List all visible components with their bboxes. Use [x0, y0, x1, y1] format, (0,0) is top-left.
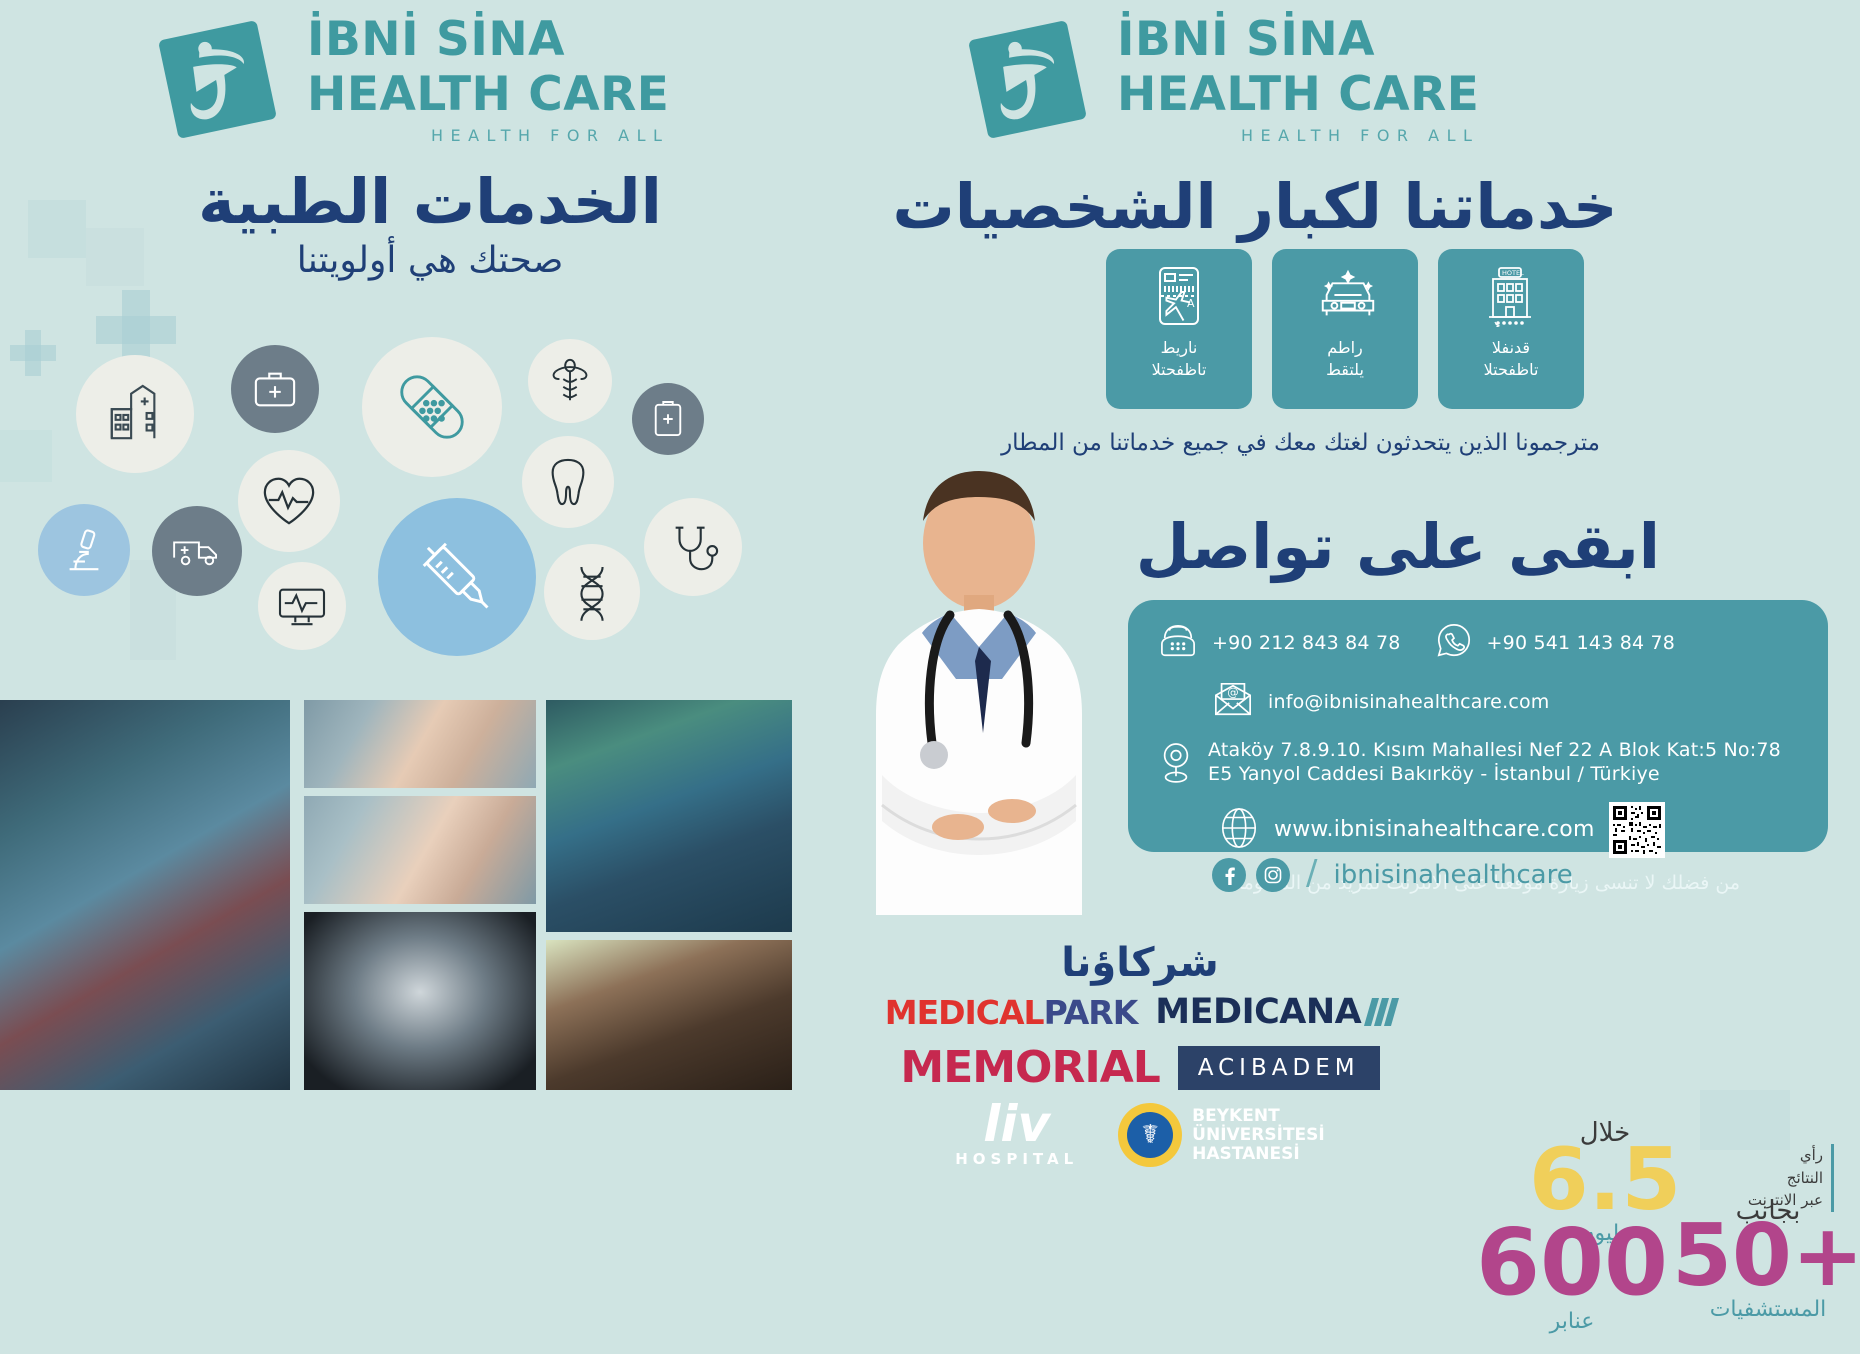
email-icon: @: [1212, 680, 1254, 724]
separator-slash: /: [1306, 853, 1317, 893]
photo-chest-xray: [304, 912, 536, 1090]
bg-square: [0, 430, 52, 482]
microscope-icon: [38, 504, 130, 596]
contact-heading: ابقى على تواصل: [1100, 510, 1660, 583]
photo-hair-transplant-result: [546, 940, 792, 1090]
logo-left: İBNİ SİNA HEALTH CARE HEALTH FOR ALL: [150, 12, 669, 147]
contact-email-row: @ info@ibnisinahealthcare.com: [1158, 680, 1802, 724]
website-url[interactable]: www.ibnisinahealthcare.com: [1274, 816, 1595, 844]
contact-address-row: Ataköy 7.8.9.10. Kısım Mahallesi Nef 22 …: [1158, 738, 1802, 788]
contact-panel: +90 212 843 84 78 +90 541 143 84 78 @: [1128, 600, 1828, 852]
medicana-logo: MEDICANA: [1155, 992, 1395, 1032]
tooth-icon: [522, 436, 614, 528]
location-pin-icon: [1158, 740, 1194, 788]
logo-name-line2: HEALTH CARE: [307, 71, 669, 118]
partners-row-3: liv HOSPITAL ☤ BEYKENT ÜNİVERSİTESİ HAST…: [830, 1103, 1450, 1168]
beykent-logo-text: BEYKENT ÜNİVERSİTESİ HASTANESİ: [1192, 1107, 1325, 1164]
caduceus-seal-icon: ☤: [1127, 1112, 1173, 1158]
caduceus-icon: [528, 339, 612, 423]
photo-rhinoplasty-profile-after: [304, 796, 536, 904]
left-heading: الخدمات الطبية: [60, 165, 800, 238]
ecg-monitor-icon: [258, 562, 346, 650]
telephone-icon: [1158, 623, 1198, 663]
service-card-label: راطميلتقط: [1326, 337, 1364, 380]
stethoscope-icon: [644, 498, 742, 596]
instagram-icon[interactable]: [1256, 858, 1290, 892]
first-aid-kit-icon: [231, 345, 319, 433]
contact-website-row: www.ibnisinahealthcare.com: [1158, 802, 1802, 858]
hospital-icon: [76, 355, 194, 473]
logo-tagline: HEALTH FOR ALL: [1117, 128, 1479, 144]
service-card-label: ناريطتاظفحتلا: [1152, 337, 1207, 380]
photo-operating-theatre-team: [546, 700, 792, 932]
stat-detail-line2: النتائج: [1713, 1167, 1823, 1190]
whatsapp-icon: [1435, 622, 1473, 664]
photo-operating-room-surgery: [0, 700, 290, 1090]
boarding-pass-airplane-icon: A: [1149, 265, 1209, 327]
beykent-seal-icon: ☤: [1118, 1103, 1182, 1167]
clipboard-icon: [632, 383, 704, 455]
svg-text:A: A: [1187, 297, 1195, 310]
left-subheading: صحتك هي أولويتنا: [60, 240, 800, 281]
memorial-logo: MEMORIAL: [900, 1042, 1159, 1093]
whatsapp-number[interactable]: +90 541 143 84 78: [1487, 631, 1676, 655]
service-card-hotel-booking[interactable]: HOTEL قدنفلاتاظفحتلا: [1438, 249, 1584, 409]
logo-name-line2: HEALTH CARE: [1117, 71, 1479, 118]
logo-name-line1: İBNİ SİNA: [307, 16, 669, 63]
partners-row-1: MEDICALPARK MEDICANA: [830, 992, 1450, 1032]
dna-icon: [544, 544, 640, 640]
svg-text:HOTEL: HOTEL: [1502, 269, 1524, 277]
address-text: Ataköy 7.8.9.10. Kısım Mahallesi Nef 22 …: [1208, 738, 1781, 787]
vip-heading: خدماتنا لكبار الشخصيات: [860, 170, 1650, 243]
hotel-building-icon: HOTEL: [1481, 265, 1541, 327]
ibni-sina-logo-mark: [960, 12, 1095, 147]
stat-detail-line1: رأي: [1713, 1144, 1823, 1167]
phone-number[interactable]: +90 212 843 84 78: [1212, 631, 1401, 655]
social-handle[interactable]: ibnisinahealthcare: [1333, 860, 1572, 890]
acibadem-logo: ACIBADEM: [1178, 1046, 1380, 1090]
stat-hospitals: بجانب 50+ المستشفيات: [1668, 1196, 1860, 1322]
social-row: / ibnisinahealthcare: [1212, 855, 1573, 895]
ibni-sina-logo-mark: [150, 12, 285, 147]
clean-car-icon: [1315, 265, 1375, 327]
stat-value: 600: [1452, 1222, 1692, 1305]
email-address[interactable]: info@ibnisinahealthcare.com: [1268, 690, 1550, 714]
partners-title: شركاؤنا: [830, 940, 1450, 986]
service-card-label: قدنفلاتاظفحتلا: [1484, 337, 1539, 380]
beykent-university-hospital-logo: ☤ BEYKENT ÜNİVERSİTESİ HASTANESİ: [1118, 1103, 1325, 1167]
photo-rhinoplasty-profile-before: [304, 700, 536, 788]
bandage-icon: [362, 337, 502, 477]
ambulance-icon: [152, 506, 242, 596]
stat-beds: 600 عنابر: [1452, 1222, 1692, 1334]
medicalpark-logo: MEDICALPARK: [885, 993, 1138, 1032]
heartbeat-icon: [238, 450, 340, 552]
stat-value: 50+: [1668, 1218, 1860, 1295]
poster-canvas: İBNİ SİNA HEALTH CARE HEALTH FOR ALL İBN…: [0, 0, 1860, 1354]
logo-name-line1: İBNİ SİNA: [1117, 16, 1479, 63]
partners-row-2: MEMORIAL ACIBADEM: [830, 1042, 1450, 1093]
qr-code-icon[interactable]: [1609, 802, 1665, 858]
logo-tagline: HEALTH FOR ALL: [307, 128, 669, 144]
logo-right: İBNİ SİNA HEALTH CARE HEALTH FOR ALL: [960, 12, 1479, 147]
partners-section: شركاؤنا MEDICALPARK MEDICANA MEMORIAL AC…: [830, 940, 1450, 1168]
facebook-icon[interactable]: [1212, 858, 1246, 892]
vip-note: مترجمونا الذين يتحدثون لغتك معك في جميع …: [840, 430, 1600, 456]
service-card-airport-transfer[interactable]: A ناريطتاظفحتلا: [1106, 249, 1252, 409]
bg-cross: [10, 330, 56, 376]
syringe-icon: [378, 498, 536, 656]
globe-icon: [1218, 806, 1260, 854]
contact-phone-row: +90 212 843 84 78 +90 541 143 84 78: [1158, 622, 1802, 664]
liv-hospital-logo: liv HOSPITAL: [955, 1103, 1078, 1168]
medicana-bars-icon: [1365, 998, 1395, 1026]
doctor-photo: [838, 455, 1120, 915]
service-card-vip-car[interactable]: راطميلتقط: [1272, 249, 1418, 409]
